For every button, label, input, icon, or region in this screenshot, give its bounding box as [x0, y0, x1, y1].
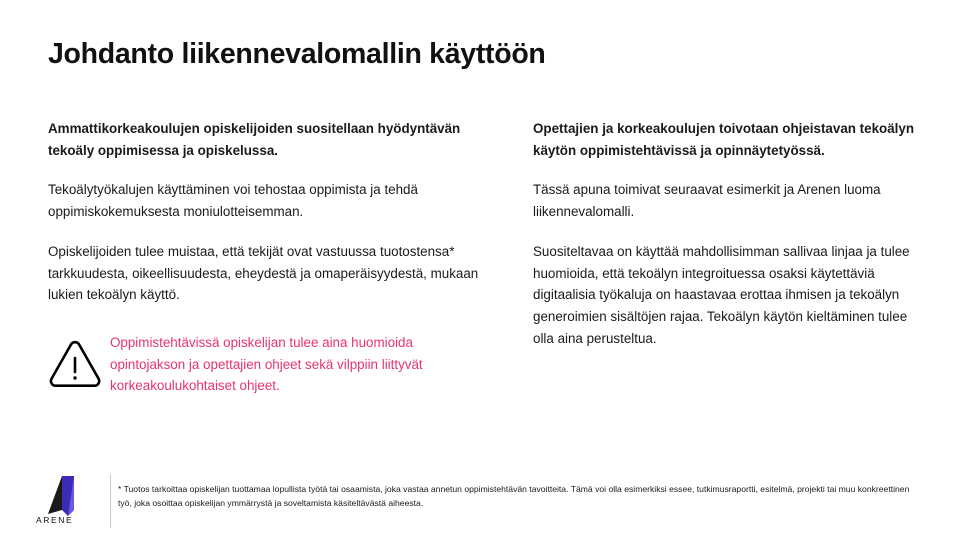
warning-text: Oppimistehtävissä opiskelijan tulee aina…: [110, 330, 480, 397]
footer-divider: [110, 474, 111, 528]
arene-logo-label: ARENE: [36, 515, 73, 525]
warning-callout: Oppimistehtävissä opiskelijan tulee aina…: [48, 330, 480, 397]
left-text-column: Ammattikorkeakoulujen opiskelijoiden suo…: [48, 118, 480, 306]
footnote-text: * Tuotos tarkoittaa opiskelijan tuottama…: [118, 483, 918, 511]
warning-triangle-icon: [48, 330, 110, 395]
left-paragraph-3: Opiskelijoiden tulee muistaa, että tekij…: [48, 241, 480, 306]
right-text-column: Opettajien ja korkeakoulujen toivotaan o…: [533, 118, 925, 349]
right-paragraph-2: Tässä apuna toimivat seuraavat esimerkit…: [533, 179, 925, 222]
right-paragraph-1: Opettajien ja korkeakoulujen toivotaan o…: [533, 118, 925, 161]
slide-canvas: Johdanto liikennevalomallin käyttöön Amm…: [0, 0, 960, 540]
page-title: Johdanto liikennevalomallin käyttöön: [48, 38, 546, 71]
right-paragraph-3: Suositeltavaa on käyttää mahdollisimman …: [533, 241, 925, 350]
footnote: * Tuotos tarkoittaa opiskelijan tuottama…: [118, 483, 918, 511]
left-paragraph-1: Ammattikorkeakoulujen opiskelijoiden suo…: [48, 118, 480, 161]
left-paragraph-2: Tekoälytyökalujen käyttäminen voi tehost…: [48, 179, 480, 222]
